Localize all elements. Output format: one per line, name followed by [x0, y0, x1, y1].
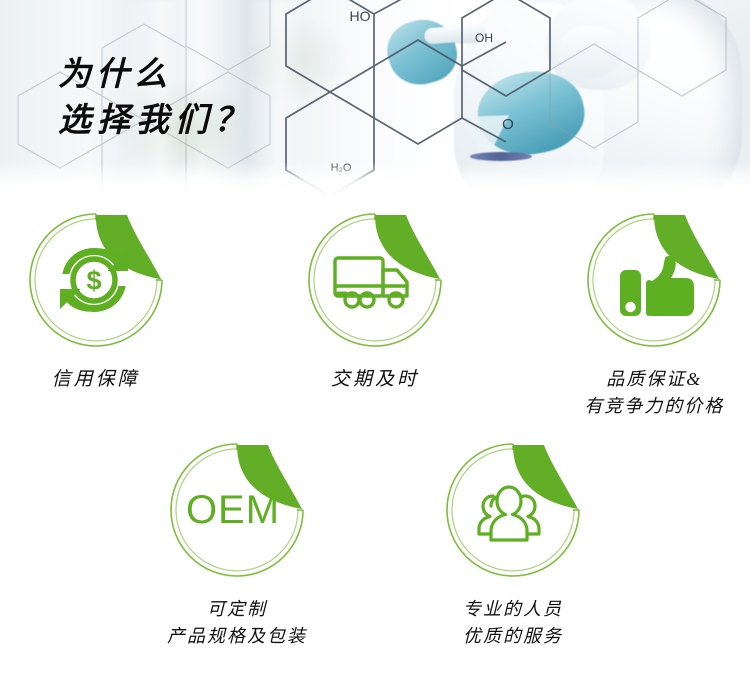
- feature-quality-and-price[interactable]: 品质保证& 有竞争力的价格: [559, 206, 750, 420]
- sticker-outline: [309, 214, 441, 346]
- feature-caption: 信用保障: [52, 366, 140, 393]
- badge-customizable: OEM: [163, 436, 311, 584]
- feature-caption: 专业的人员 优质的服务: [463, 596, 563, 650]
- page-title: 为什么选择我们？: [58, 52, 253, 144]
- flask-liquid: [470, 152, 532, 161]
- feature-credit-guarantee[interactable]: $ 信用保障: [0, 206, 191, 420]
- feature-row-2: OEM 可定制 产品规格及包装: [0, 436, 750, 650]
- feature-caption: 交期及时: [331, 366, 419, 393]
- badge-professional-service: [439, 436, 587, 584]
- page-title-line-1: 为什么: [58, 57, 172, 93]
- feature-row-1: $ 信用保障: [0, 206, 750, 420]
- hero-banner: HO OH H₂O O 为什么选择我们？: [0, 0, 750, 196]
- svg-text:$: $: [86, 266, 101, 296]
- feature-on-time-delivery[interactable]: 交期及时: [279, 206, 470, 420]
- badge-quality-and-price: [580, 206, 728, 354]
- page-title-line-2: 选择我们？: [58, 103, 253, 139]
- badge-on-time-delivery: [301, 206, 449, 354]
- why-choose-us-page: HO OH H₂O O 为什么选择我们？: [0, 0, 750, 689]
- feature-professional-service[interactable]: 专业的人员 优质的服务: [415, 436, 611, 650]
- badge-credit-guarantee: $: [22, 206, 170, 354]
- feature-caption: 可定制 产品规格及包装: [167, 596, 307, 650]
- feature-grid: $ 信用保障: [0, 206, 750, 650]
- feature-caption: 品质保证& 有竞争力的价格: [584, 366, 724, 420]
- feature-customizable[interactable]: OEM 可定制 产品规格及包装: [139, 436, 335, 650]
- oem-text-icon: OEM: [186, 488, 280, 532]
- banner-bottom-fade: [0, 162, 750, 196]
